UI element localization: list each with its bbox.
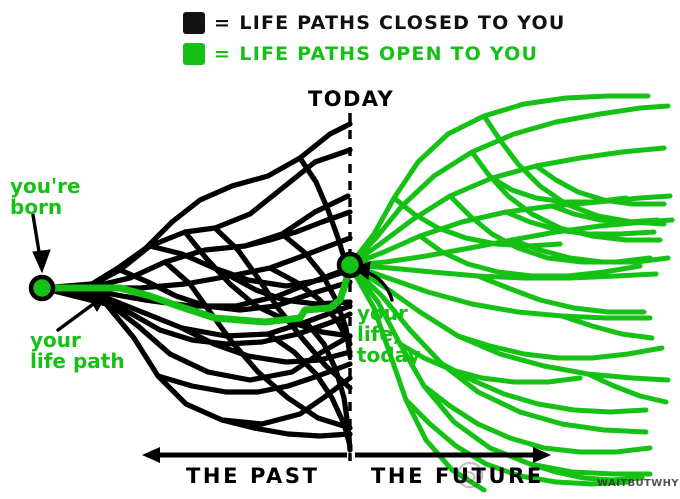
legend-row-open: = LIFE PATHS OPEN TO YOU <box>183 43 538 65</box>
legend-equals-sign: = <box>214 43 230 65</box>
youre-born-annotation: you're born <box>10 176 81 218</box>
diagram-canvas <box>0 0 680 499</box>
birth-dot <box>31 277 53 299</box>
legend-row-closed: = LIFE PATHS CLOSED TO YOU <box>183 12 566 34</box>
legend-equals-sign: = <box>214 12 230 34</box>
legend-label-closed: LIFE PATHS CLOSED TO YOU <box>239 12 565 34</box>
future-17 <box>458 336 662 358</box>
your-life-today-annotation: your life, today <box>357 303 421 366</box>
future-13 <box>484 116 664 224</box>
past-axis-label: THE PAST <box>186 465 320 487</box>
born-annotation-arrow <box>33 215 50 272</box>
future-16 <box>478 276 644 312</box>
past-direction-arrow <box>142 447 347 463</box>
future-14 <box>472 152 660 240</box>
green-square-swatch <box>183 43 205 65</box>
today-label: TODAY <box>308 88 394 110</box>
future-branches-group <box>350 96 672 490</box>
future-11 <box>420 236 640 276</box>
past-1 <box>42 124 350 288</box>
today-dot <box>339 254 361 276</box>
your-life-path-annotation: your life path <box>30 330 125 372</box>
legend-label-open: LIFE PATHS OPEN TO YOU <box>239 43 538 65</box>
life-paths-diagram: = LIFE PATHS CLOSED TO YOU = LIFE PATHS … <box>0 0 680 499</box>
artist-signature: WAITBUTWHY <box>597 478 679 489</box>
weibo-watermark-icon <box>455 460 485 490</box>
future-23 <box>552 206 658 222</box>
black-square-swatch <box>183 12 205 34</box>
